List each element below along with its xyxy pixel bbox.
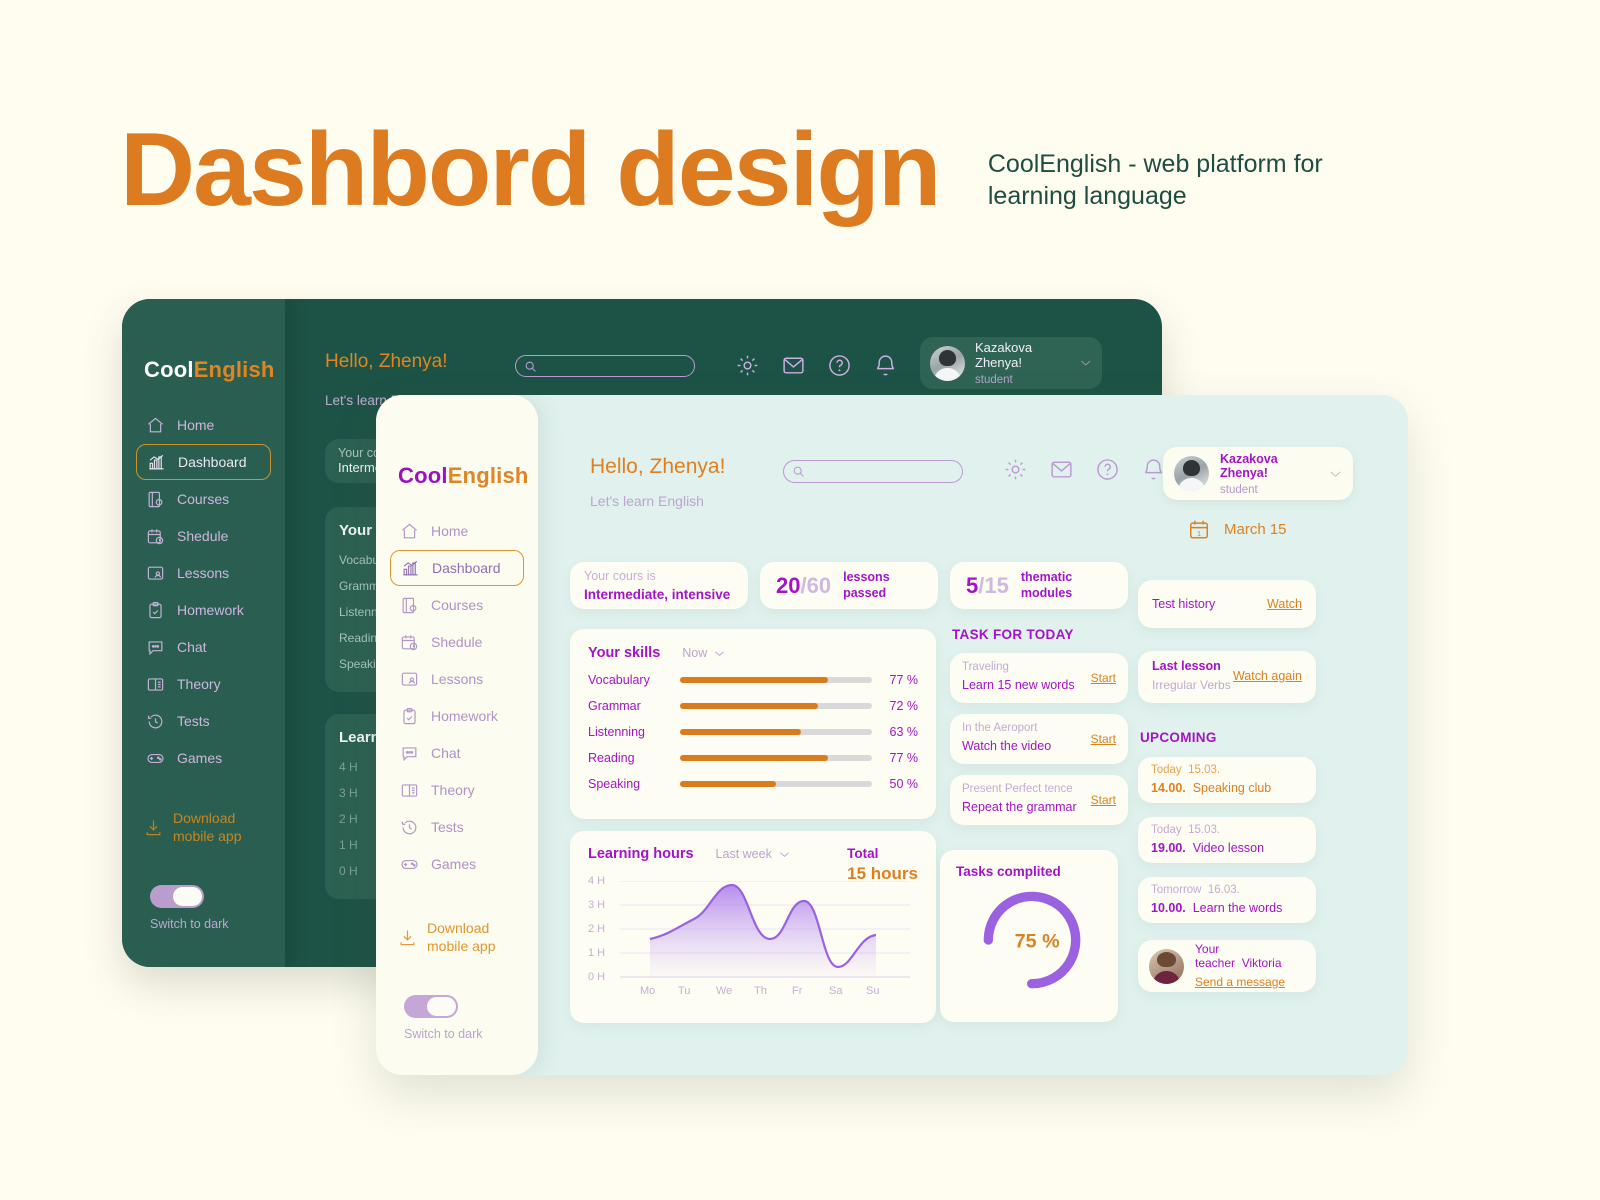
sidebar-item-label: Courses bbox=[431, 597, 483, 613]
gear-icon[interactable] bbox=[735, 353, 760, 378]
skill-progress-fill bbox=[680, 703, 818, 709]
test-history-watch-link[interactable]: Watch bbox=[1267, 597, 1302, 611]
dark-sidebar: CoolEnglish Home Dashboard Courses Shedu… bbox=[122, 299, 285, 967]
teacher-card[interactable]: Your teacher Viktoria Send a message bbox=[1138, 940, 1316, 992]
sidebar-item-homework[interactable]: Homework bbox=[136, 592, 271, 628]
sidebar-item-label: Chat bbox=[431, 745, 461, 761]
calendar-clock-icon bbox=[400, 633, 419, 652]
logo-light[interactable]: CoolEnglish bbox=[376, 395, 538, 489]
upcoming-day: Tomorrow 16.03. bbox=[1151, 884, 1303, 896]
sidebar-item-label: Lessons bbox=[431, 671, 483, 687]
skill-name: Reading bbox=[588, 751, 680, 765]
task-card[interactable]: Present Perfect tence Repeat the grammar… bbox=[950, 775, 1128, 825]
download-line2: mobile app bbox=[173, 828, 242, 846]
chart-area-fill bbox=[650, 885, 876, 977]
sidebar-item-homework[interactable]: Homework bbox=[390, 698, 524, 734]
chart-title: Learning hours bbox=[588, 846, 694, 862]
course-label: Your cours is bbox=[584, 569, 734, 583]
sidebar-item-dashboard[interactable]: Dashboard bbox=[390, 550, 524, 586]
theme-toggle-label: Switch to dark bbox=[150, 917, 285, 931]
chart-ytick: 2 H bbox=[588, 923, 605, 935]
chevron-down-icon bbox=[779, 851, 790, 858]
theme-toggle-dark[interactable] bbox=[150, 885, 204, 908]
last-lesson-watch-again-link[interactable]: Watch again bbox=[1233, 669, 1302, 683]
clipboard-check-icon bbox=[146, 601, 165, 620]
skill-progress-track bbox=[680, 729, 872, 735]
chart-xtick: We bbox=[716, 985, 732, 997]
book-search-icon bbox=[146, 490, 165, 509]
search-input[interactable] bbox=[515, 355, 695, 377]
chart-ytick: 3 H bbox=[588, 899, 605, 911]
sidebar-item-chat[interactable]: Chat bbox=[390, 735, 524, 771]
calendar-clock-icon bbox=[146, 527, 165, 546]
learning-hours-area-chart bbox=[620, 881, 910, 981]
task-card[interactable]: Traveling Learn 15 new words Start bbox=[950, 653, 1128, 703]
upcoming-item[interactable]: Today 15.03. 14.00. Speaking club bbox=[1138, 757, 1316, 803]
modules-label-line2: modules bbox=[1021, 586, 1072, 601]
chart-xtick: Mo bbox=[640, 985, 655, 997]
sidebar-item-theory[interactable]: Theory bbox=[390, 772, 524, 808]
sidebar-item-shedule[interactable]: Shedule bbox=[136, 518, 271, 554]
skills-card: Your skills Now Vocabulary 77 % Grammar … bbox=[570, 629, 936, 819]
profile-role: student bbox=[975, 374, 1070, 386]
chevron-down-icon[interactable] bbox=[1329, 470, 1342, 478]
donut-title: Tasks complited bbox=[956, 864, 1102, 879]
learning-hours-card: Learning hours Last week Total 15 hours … bbox=[570, 831, 936, 1023]
skill-percent: 77 % bbox=[872, 751, 918, 765]
task-start-link[interactable]: Start bbox=[1091, 793, 1116, 807]
profile-role: student bbox=[1220, 484, 1318, 496]
sidebar-item-label: Home bbox=[431, 523, 468, 539]
download-icon bbox=[144, 818, 163, 837]
logo-english: English bbox=[194, 357, 275, 382]
screen-user-icon bbox=[400, 670, 419, 689]
page-subtitle: CoolEnglish - web platform for learning … bbox=[988, 148, 1388, 212]
sidebar-item-home[interactable]: Home bbox=[136, 407, 271, 443]
teacher-avatar bbox=[1149, 949, 1184, 984]
sidebar-item-games[interactable]: Games bbox=[390, 846, 524, 882]
dark-nav: Home Dashboard Courses Shedule Lessons H… bbox=[122, 407, 285, 776]
light-sidebar: CoolEnglish Home Dashboard Courses Shedu… bbox=[376, 395, 538, 1075]
sidebar-item-label: Homework bbox=[177, 602, 244, 618]
logo-english: English bbox=[448, 463, 529, 488]
lessons-fraction: 20/60 bbox=[776, 573, 831, 599]
upcoming-event: 10.00. Learn the words bbox=[1151, 901, 1303, 915]
skill-row: Listenning 63 % bbox=[588, 725, 918, 739]
page-header: Dashbord design CoolEnglish - web platfo… bbox=[120, 118, 1520, 222]
light-nav: Home Dashboard Courses Shedule Lessons H… bbox=[376, 513, 538, 882]
search-input[interactable] bbox=[783, 460, 963, 483]
bell-icon[interactable] bbox=[873, 353, 898, 378]
skill-percent: 77 % bbox=[872, 673, 918, 687]
sidebar-item-label: Chat bbox=[177, 639, 207, 655]
upcoming-day: Today 15.03. bbox=[1151, 824, 1303, 836]
skill-progress-track bbox=[680, 677, 872, 683]
light-dashboard-window: CoolEnglish Home Dashboard Courses Shedu… bbox=[376, 395, 1408, 1075]
donut-value: 75 % bbox=[1015, 930, 1060, 952]
open-book-icon bbox=[146, 675, 165, 694]
theme-toggle-light[interactable] bbox=[404, 995, 458, 1018]
lessons-label-line2: passed bbox=[843, 586, 890, 601]
skill-progress-track bbox=[680, 781, 872, 787]
upcoming-item[interactable]: Tomorrow 16.03. 10.00. Learn the words bbox=[1138, 877, 1316, 923]
mail-icon[interactable] bbox=[1049, 457, 1074, 482]
sidebar-item-label: Lessons bbox=[177, 565, 229, 581]
page-title: Dashbord design bbox=[120, 118, 939, 222]
sidebar-item-games[interactable]: Games bbox=[136, 740, 271, 776]
skill-name: Speaking bbox=[588, 777, 680, 791]
skill-progress-fill bbox=[680, 677, 828, 683]
sidebar-item-label: Shedule bbox=[431, 634, 482, 650]
sidebar-item-lessons[interactable]: Lessons bbox=[390, 661, 524, 697]
open-book-icon bbox=[400, 781, 419, 800]
chart-bars-icon bbox=[147, 453, 166, 472]
help-circle-icon[interactable] bbox=[827, 353, 852, 378]
sidebar-item-label: Games bbox=[431, 856, 476, 872]
teacher-label: Your teacher Viktoria bbox=[1195, 942, 1305, 970]
tasks-completed-card: Tasks complited 75 % bbox=[940, 850, 1118, 1022]
subgreeting: Let's learn English bbox=[590, 493, 704, 509]
chart-ytick: 0 H bbox=[588, 971, 605, 983]
test-history-card[interactable]: Test history Watch bbox=[1138, 580, 1316, 628]
greeting: Hello, Zhenya! bbox=[590, 455, 725, 479]
skill-progress-fill bbox=[680, 755, 828, 761]
book-search-icon bbox=[400, 596, 419, 615]
date-display: 1 March 15 bbox=[1188, 518, 1287, 541]
sidebar-item-tests[interactable]: Tests bbox=[136, 703, 271, 739]
calendar-icon: 1 bbox=[1188, 518, 1210, 541]
upcoming-event: 19.00. Video lesson bbox=[1151, 841, 1303, 855]
logo-cool: Cool bbox=[398, 463, 448, 488]
skills-period-value: Now bbox=[682, 646, 707, 660]
stat-card-course[interactable]: Your cours is Intermediate, intensive bbox=[570, 562, 748, 609]
send-message-link[interactable]: Send a message bbox=[1195, 975, 1285, 989]
chat-bubble-icon bbox=[146, 638, 165, 657]
clock-history-icon bbox=[400, 818, 419, 837]
home-icon bbox=[400, 522, 419, 541]
svg-text:1: 1 bbox=[1197, 529, 1201, 538]
clock-history-icon bbox=[146, 712, 165, 731]
download-line2: mobile app bbox=[427, 938, 496, 956]
chart-plot-area: 4 H 3 H 2 H 1 H 0 H bbox=[588, 881, 918, 1001]
stat-card-lessons[interactable]: 20/60 lessons passed bbox=[760, 562, 938, 609]
profile-name: Kazakova Zhenya! bbox=[975, 340, 1070, 370]
chevron-down-icon[interactable] bbox=[1080, 359, 1092, 367]
date-label: March 15 bbox=[1224, 521, 1287, 538]
skill-name: Listenning bbox=[588, 725, 680, 739]
chart-total-label: Total bbox=[847, 846, 918, 861]
stat-card-modules[interactable]: 5/15 thematic modules bbox=[950, 562, 1128, 609]
task-start-link[interactable]: Start bbox=[1091, 732, 1116, 746]
download-mobile-app-link[interactable]: Download mobile app bbox=[398, 920, 538, 955]
skills-period-dropdown[interactable]: Now bbox=[682, 646, 725, 660]
sidebar-item-courses[interactable]: Courses bbox=[136, 481, 271, 517]
home-icon bbox=[146, 416, 165, 435]
skill-row: Reading 77 % bbox=[588, 751, 918, 765]
gamepad-icon bbox=[146, 749, 165, 768]
skill-percent: 63 % bbox=[872, 725, 918, 739]
skill-percent: 50 % bbox=[872, 777, 918, 791]
sidebar-item-courses[interactable]: Courses bbox=[390, 587, 524, 623]
gear-icon[interactable] bbox=[1003, 457, 1028, 482]
logo-cool: Cool bbox=[144, 357, 194, 382]
download-mobile-app-link[interactable]: Download mobile app bbox=[144, 810, 285, 845]
task-card[interactable]: In the Aeroport Watch the video Start bbox=[950, 714, 1128, 764]
sidebar-item-label: Games bbox=[177, 750, 222, 766]
skill-row: Vocabulary 77 % bbox=[588, 673, 918, 687]
chart-bars-icon bbox=[401, 559, 420, 578]
chart-xtick: Su bbox=[866, 985, 879, 997]
task-start-link[interactable]: Start bbox=[1091, 671, 1116, 685]
last-lesson-value: Irregular Verbs bbox=[1152, 678, 1233, 692]
chat-bubble-icon bbox=[400, 744, 419, 763]
sidebar-item-shedule[interactable]: Shedule bbox=[390, 624, 524, 660]
sidebar-item-lessons[interactable]: Lessons bbox=[136, 555, 271, 591]
skill-percent: 72 % bbox=[872, 699, 918, 713]
chart-period-value: Last week bbox=[716, 847, 772, 861]
tasks-section-title: TASK FOR TODAY bbox=[952, 627, 1074, 642]
logo-dark[interactable]: CoolEnglish bbox=[122, 299, 285, 383]
test-history-label: Test history bbox=[1152, 597, 1267, 611]
skills-title: Your skills bbox=[588, 645, 660, 661]
sidebar-item-home[interactable]: Home bbox=[390, 513, 524, 549]
upcoming-event: 14.00. Speaking club bbox=[1151, 781, 1303, 795]
modules-label-line1: thematic bbox=[1021, 570, 1072, 585]
sidebar-item-label: Dashboard bbox=[178, 454, 247, 470]
lessons-label: lessons passed bbox=[843, 570, 890, 601]
skill-progress-fill bbox=[680, 781, 776, 787]
profile-name: Kazakova Zhenya! bbox=[1220, 452, 1318, 480]
course-value: Intermediate, intensive bbox=[584, 587, 734, 602]
skill-progress-track bbox=[680, 703, 872, 709]
avatar bbox=[1174, 456, 1209, 491]
avatar bbox=[930, 346, 965, 381]
sidebar-item-label: Theory bbox=[431, 782, 475, 798]
profile-chip-dark[interactable]: Kazakova Zhenya! student bbox=[920, 337, 1102, 389]
theme-toggle-label: Switch to dark bbox=[404, 1027, 538, 1041]
profile-chip-light[interactable]: Kazakova Zhenya! student bbox=[1163, 447, 1353, 500]
skill-name: Vocabulary bbox=[588, 673, 680, 687]
sidebar-item-label: Shedule bbox=[177, 528, 228, 544]
sidebar-item-chat[interactable]: Chat bbox=[136, 629, 271, 665]
search-icon bbox=[792, 465, 805, 478]
sidebar-item-label: Tests bbox=[177, 713, 210, 729]
search-icon bbox=[524, 360, 537, 373]
chevron-down-icon bbox=[714, 650, 725, 657]
light-header-icons bbox=[1003, 457, 1166, 482]
tasks-completed-donut: 75 % bbox=[980, 888, 1084, 992]
chart-xtick: Tu bbox=[678, 985, 690, 997]
sidebar-item-dashboard[interactable]: Dashboard bbox=[136, 444, 271, 480]
mail-icon[interactable] bbox=[781, 353, 806, 378]
sidebar-item-theory[interactable]: Theory bbox=[136, 666, 271, 702]
skill-progress-fill bbox=[680, 729, 801, 735]
sidebar-item-label: Courses bbox=[177, 491, 229, 507]
chart-period-dropdown[interactable]: Last week bbox=[716, 847, 790, 861]
skill-name: Grammar bbox=[588, 699, 680, 713]
lessons-label-line1: lessons bbox=[843, 570, 890, 585]
last-lesson-label: Last lesson bbox=[1152, 659, 1233, 673]
upcoming-item[interactable]: Today 15.03. 19.00. Video lesson bbox=[1138, 817, 1316, 863]
gamepad-icon bbox=[400, 855, 419, 874]
sidebar-item-label: Homework bbox=[431, 708, 498, 724]
download-line1: Download bbox=[173, 810, 242, 828]
chart-xtick: Th bbox=[754, 985, 767, 997]
modules-label: thematic modules bbox=[1021, 570, 1072, 601]
skill-row: Speaking 50 % bbox=[588, 777, 918, 791]
last-lesson-card[interactable]: Last lesson Irregular Verbs Watch again bbox=[1138, 651, 1316, 703]
skill-progress-track bbox=[680, 755, 872, 761]
screen-user-icon bbox=[146, 564, 165, 583]
chart-xtick: Sa bbox=[829, 985, 842, 997]
sidebar-item-label: Tests bbox=[431, 819, 464, 835]
skill-row: Grammar 72 % bbox=[588, 699, 918, 713]
sidebar-item-tests[interactable]: Tests bbox=[390, 809, 524, 845]
upcoming-day: Today 15.03. bbox=[1151, 764, 1303, 776]
chart-ytick: 1 H bbox=[588, 947, 605, 959]
sidebar-item-label: Home bbox=[177, 417, 214, 433]
light-main-area: Hello, Zhenya! Let's learn English Kazak… bbox=[538, 395, 1408, 1075]
upcoming-section-title: UPCOMING bbox=[1140, 730, 1217, 745]
sidebar-item-label: Dashboard bbox=[432, 560, 501, 576]
help-circle-icon[interactable] bbox=[1095, 457, 1120, 482]
clipboard-check-icon bbox=[400, 707, 419, 726]
dark-header-icons bbox=[735, 353, 898, 378]
download-icon bbox=[398, 928, 417, 947]
chart-xtick: Fr bbox=[792, 985, 802, 997]
skills-header: Your skills Now bbox=[588, 645, 918, 661]
chart-ytick: 4 H bbox=[588, 875, 605, 887]
modules-fraction: 5/15 bbox=[966, 573, 1009, 599]
chart-total: Total 15 hours bbox=[847, 846, 918, 884]
sidebar-item-label: Theory bbox=[177, 676, 221, 692]
download-line1: Download bbox=[427, 920, 496, 938]
